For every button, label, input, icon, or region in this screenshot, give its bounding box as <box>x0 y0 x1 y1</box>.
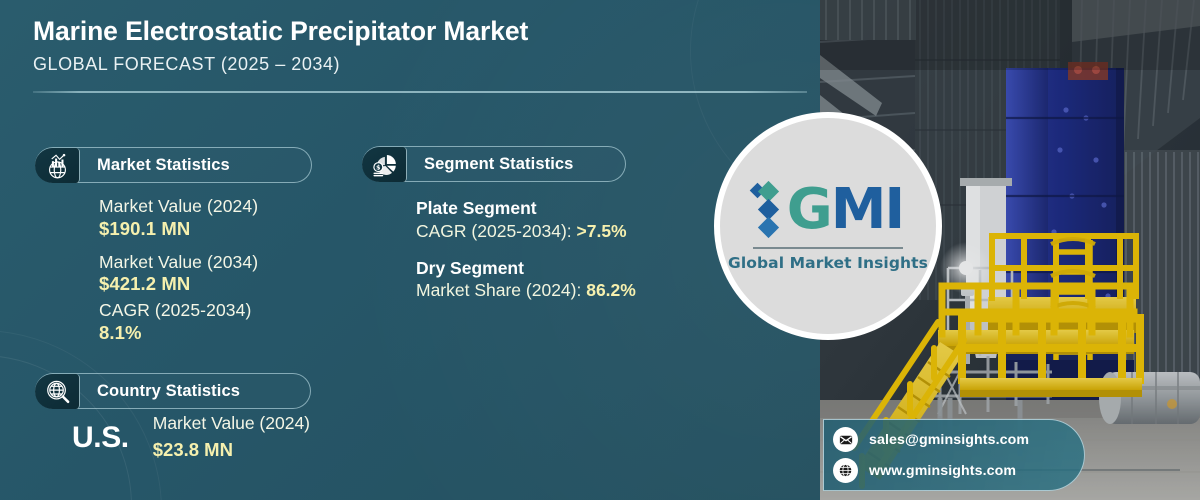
market-statistics-label: Market Statistics <box>80 156 252 175</box>
diamond-accent-icon <box>749 180 783 240</box>
contact-website-text: www.gminsights.com <box>869 463 1016 479</box>
segment-statistics-pill: $ Segment Statistics <box>362 146 626 182</box>
country-name: U.S. <box>72 412 129 453</box>
bar-chart-globe-icon <box>35 148 80 183</box>
infographic-root: Marine Electrostatic Precipitator Market… <box>0 0 1200 500</box>
logo-letter-g: G <box>787 177 831 242</box>
dry-segment-metric: Market Share (2024): <box>416 280 586 300</box>
country-value-group: Market Value (2024) $23.8 MN <box>153 412 310 462</box>
plate-segment-metric: CAGR (2025-2034): <box>416 221 577 241</box>
market-value-2034-value: $421.2 MN <box>99 273 258 296</box>
plate-segment-value: >7.5% <box>577 221 627 241</box>
envelope-icon <box>833 427 858 452</box>
globe-icon <box>833 458 858 483</box>
left-content-panel: Marine Electrostatic Precipitator Market… <box>0 0 820 500</box>
logo-divider <box>753 247 903 249</box>
market-value-2024-value: $190.1 MN <box>99 218 258 241</box>
country-statistics-pill: Country Statistics <box>35 373 311 409</box>
page-title: Marine Electrostatic Precipitator Market <box>33 16 808 46</box>
dry-segment-line: Market Share (2024): 86.2% <box>416 279 636 302</box>
country-statistics-values: U.S. Market Value (2024) $23.8 MN <box>72 412 310 462</box>
plate-segment-line: CAGR (2025-2034): >7.5% <box>416 220 636 243</box>
market-statistics-values: Market Value (2024) $190.1 MN Market Val… <box>99 196 258 356</box>
country-market-value-label: Market Value (2024) <box>153 412 310 435</box>
pie-chart-coin-icon: $ <box>362 147 407 182</box>
market-value-2024-label: Market Value (2024) <box>99 196 258 218</box>
segment-statistics-values: Plate Segment CAGR (2025-2034): >7.5% Dr… <box>416 197 636 316</box>
segment-statistics-label: Segment Statistics <box>407 155 595 174</box>
market-value-2034-label: Market Value (2034) <box>99 252 258 274</box>
logo-letter-i: I <box>884 177 903 242</box>
market-cagr-value: 8.1% <box>99 322 258 345</box>
logo-letter-m: M <box>831 177 885 242</box>
contact-email-row[interactable]: sales@gminsights.com <box>833 427 1084 452</box>
market-statistics-pill: Market Statistics <box>35 147 312 183</box>
market-cagr-label: CAGR (2025-2034) <box>99 300 258 322</box>
plate-segment-title: Plate Segment <box>416 197 636 220</box>
dry-segment-value: 86.2% <box>586 280 636 300</box>
country-statistics-label: Country Statistics <box>80 382 262 401</box>
gmi-logo-badge: GMI Global Market Insights <box>714 112 942 340</box>
gmi-logo-mark: GMI <box>749 180 904 240</box>
globe-magnifier-icon <box>35 374 80 409</box>
page-subtitle: GLOBAL FORECAST (2025 – 2034) <box>33 55 808 75</box>
contact-email-text: sales@gminsights.com <box>869 432 1029 448</box>
header: Marine Electrostatic Precipitator Market… <box>33 16 808 75</box>
gmi-logo-text: GMI <box>787 182 904 238</box>
contact-panel: sales@gminsights.com www.gminsights.com <box>823 419 1085 491</box>
svg-text:$: $ <box>376 164 380 171</box>
logo-tagline: Global Market Insights <box>728 254 928 272</box>
country-market-value: $23.8 MN <box>153 438 310 462</box>
contact-website-row[interactable]: www.gminsights.com <box>833 458 1084 483</box>
dry-segment-title: Dry Segment <box>416 257 636 280</box>
header-divider <box>33 91 807 93</box>
